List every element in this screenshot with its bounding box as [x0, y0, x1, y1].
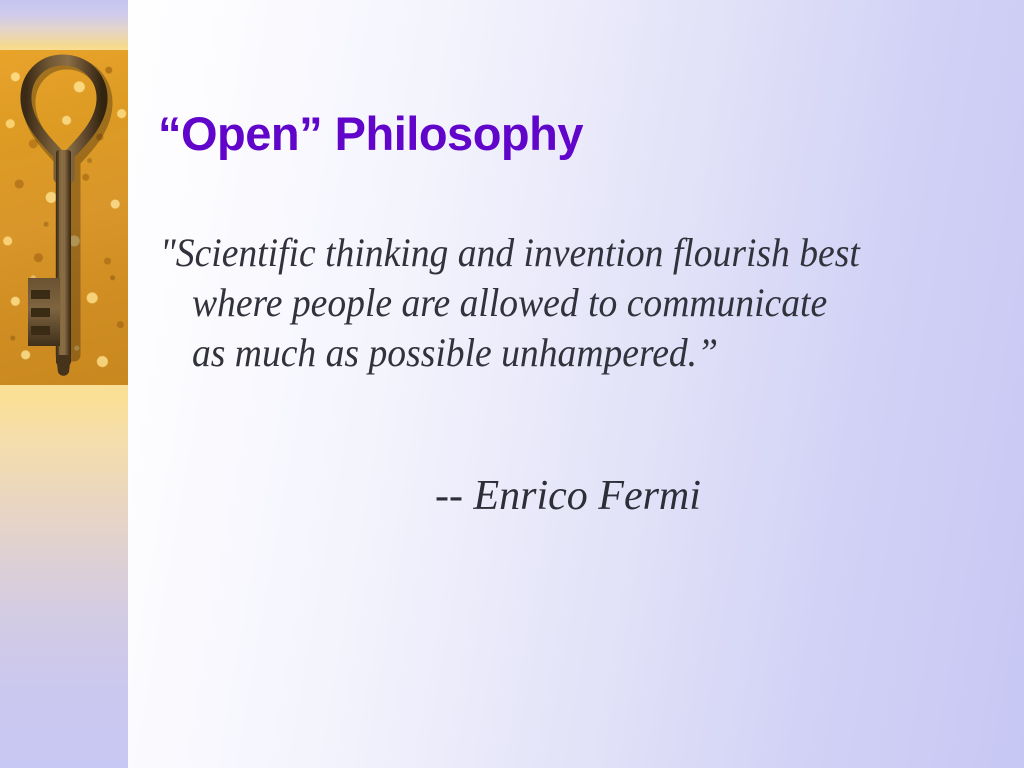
antique-key-icon: [0, 50, 128, 385]
quote-text: "Scientific thinking and invention flour…: [160, 228, 1020, 378]
key-photograph: [0, 50, 128, 385]
page-title: “Open” Philosophy: [158, 106, 958, 162]
quote-line-1: "Scientific thinking and invention flour…: [160, 228, 968, 278]
quote-attribution: -- Enrico Fermi: [435, 472, 701, 520]
key-bit: [28, 278, 60, 346]
presentation-slide: “Open” Philosophy "Scientific thinking a…: [0, 0, 1024, 768]
quote-line-3: as much as possible unhampered.”: [160, 328, 968, 378]
sidebar-decoration-band: [0, 0, 128, 768]
quote-line-2: where people are allowed to communicate: [160, 278, 968, 328]
key-tip: [56, 355, 71, 376]
